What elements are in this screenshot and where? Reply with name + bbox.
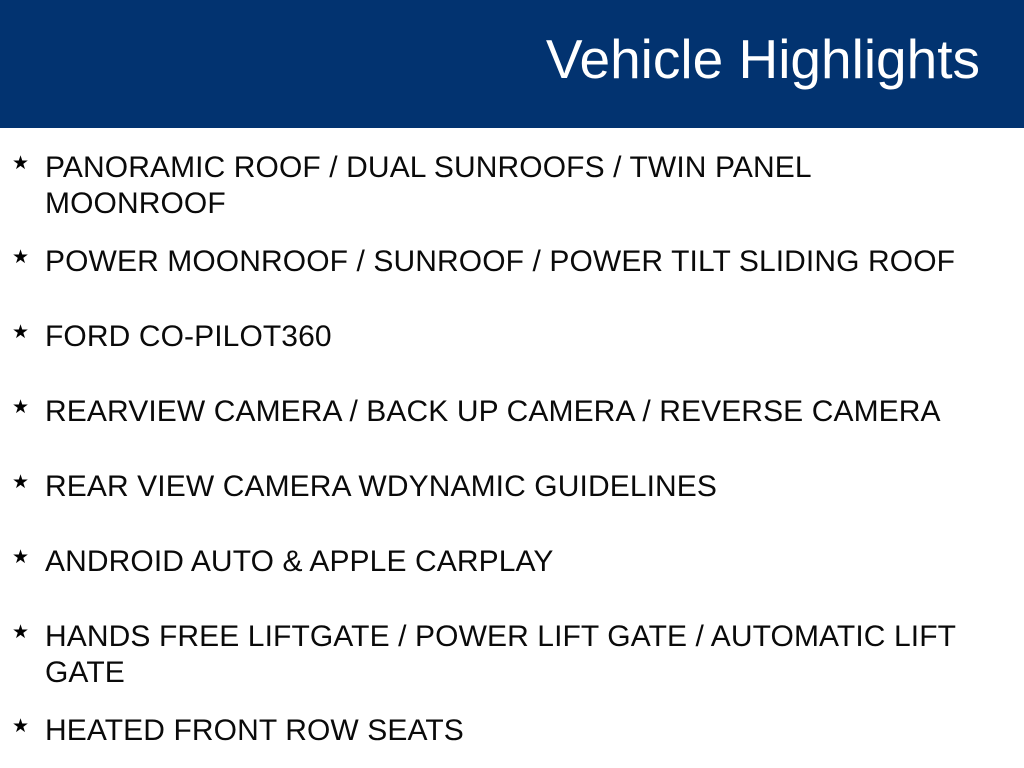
star-icon: ★	[12, 623, 34, 642]
list-item: ★ HANDS FREE LIFTGATE / POWER LIFT GATE …	[0, 597, 1024, 691]
star-icon: ★	[12, 154, 34, 173]
star-icon: ★	[12, 323, 34, 342]
vehicle-highlights-list: ★ PANORAMIC ROOF / DUAL SUNROOFS / TWIN …	[0, 128, 1024, 766]
page-title: Vehicle Highlights	[546, 26, 980, 92]
list-item-label: REAR VIEW CAMERA WDYNAMIC GUIDELINES	[45, 447, 996, 505]
vehicle-highlights-slide: Vehicle Highlights ★ PANORAMIC ROOF / DU…	[0, 0, 1024, 768]
list-item: ★ POWER MOONROOF / SUNROOF / POWER TILT …	[0, 222, 1024, 297]
list-item: ★ REARVIEW CAMERA / BACK UP CAMERA / REV…	[0, 372, 1024, 447]
list-item: ★ ANDROID AUTO & APPLE CARPLAY	[0, 522, 1024, 597]
list-item: ★ REAR VIEW CAMERA WDYNAMIC GUIDELINES	[0, 447, 1024, 522]
list-item-label: POWER MOONROOF / SUNROOF / POWER TILT SL…	[45, 222, 996, 280]
list-item-label: PANORAMIC ROOF / DUAL SUNROOFS / TWIN PA…	[45, 128, 996, 222]
list-item-label: FORD CO-PILOT360	[45, 297, 996, 355]
list-item-label: HANDS FREE LIFTGATE / POWER LIFT GATE / …	[45, 597, 996, 691]
list-item: ★ PANORAMIC ROOF / DUAL SUNROOFS / TWIN …	[0, 128, 1024, 222]
list-item: ★ FORD CO-PILOT360	[0, 297, 1024, 372]
header-banner: Vehicle Highlights	[0, 0, 1024, 128]
star-icon: ★	[12, 398, 34, 417]
list-item: ★ HEATED FRONT ROW SEATS	[0, 691, 1024, 766]
list-item-label: HEATED FRONT ROW SEATS	[45, 691, 996, 749]
star-icon: ★	[12, 473, 34, 492]
star-icon: ★	[12, 248, 34, 267]
list-item-label: ANDROID AUTO & APPLE CARPLAY	[45, 522, 996, 580]
star-icon: ★	[12, 548, 34, 567]
star-icon: ★	[12, 717, 34, 736]
list-item-label: REARVIEW CAMERA / BACK UP CAMERA / REVER…	[45, 372, 996, 430]
